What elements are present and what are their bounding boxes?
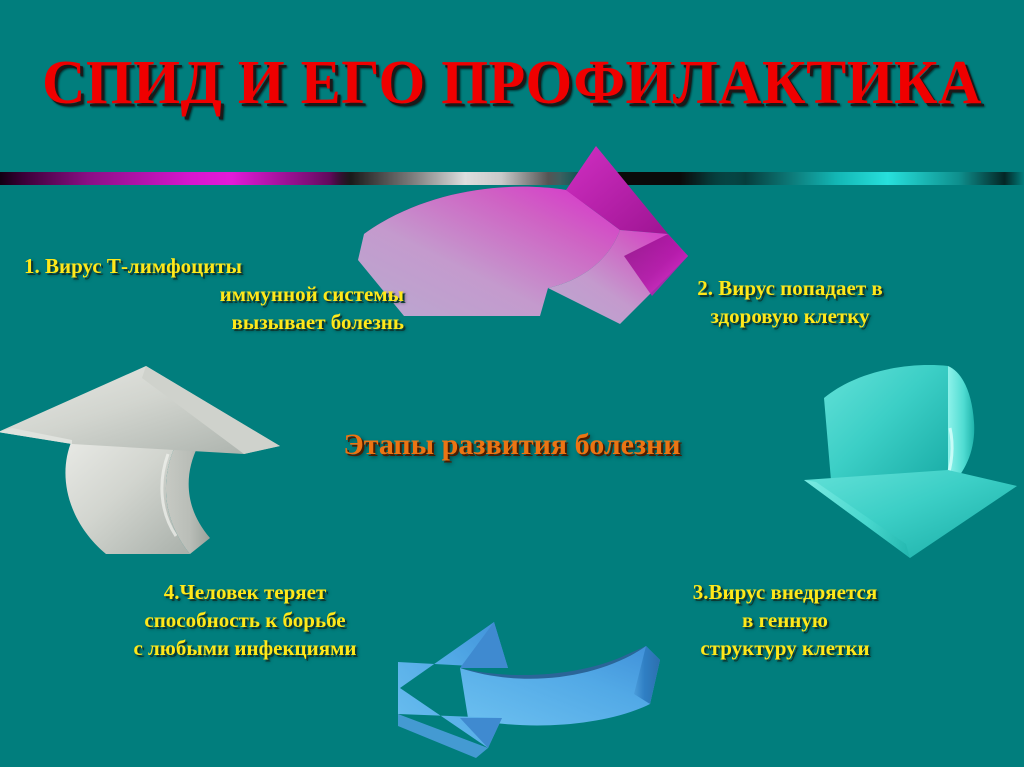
divider-segment-cyan xyxy=(700,172,1024,185)
step-3-line-1: 3.Вирус внедряется xyxy=(620,578,950,606)
step-3-text: 3.Вирус внедряется в генную структуру кл… xyxy=(620,578,950,662)
divider-segment-silver xyxy=(330,172,590,185)
step-4-line-1: 4.Человек теряет xyxy=(80,578,410,606)
step-2-line-1: 2. Вирус попадает в xyxy=(620,274,960,302)
step-1-line-2: иммунной системы xyxy=(24,280,404,308)
center-label: Этапы развития болезни xyxy=(0,428,1024,462)
step-4-line-3: с любыми инфекциями xyxy=(80,634,410,662)
step-2-text: 2. Вирус попадает в здоровую клетку xyxy=(620,274,960,330)
step-1-line-1: 1. Вирус Т-лимфоциты xyxy=(24,252,404,280)
step-3-line-3: структуру клетки xyxy=(620,634,950,662)
step-3-line-2: в генную xyxy=(620,606,950,634)
page-title: СПИД И ЕГО ПРОФИЛАКТИКА xyxy=(15,52,1008,114)
divider-bar xyxy=(0,172,1024,185)
step-4-text: 4.Человек теряет способность к борьбе с … xyxy=(80,578,410,662)
step-2-line-2: здоровую клетку xyxy=(620,302,960,330)
step-1-line-3: вызывает болезнь xyxy=(24,308,404,336)
step-4-line-2: способность к борьбе xyxy=(80,606,410,634)
step-1-text: 1. Вирус Т-лимфоциты иммунной системы вы… xyxy=(24,252,404,336)
slide-canvas: СПИД И ЕГО ПРОФИЛАКТИКА xyxy=(0,0,1024,767)
